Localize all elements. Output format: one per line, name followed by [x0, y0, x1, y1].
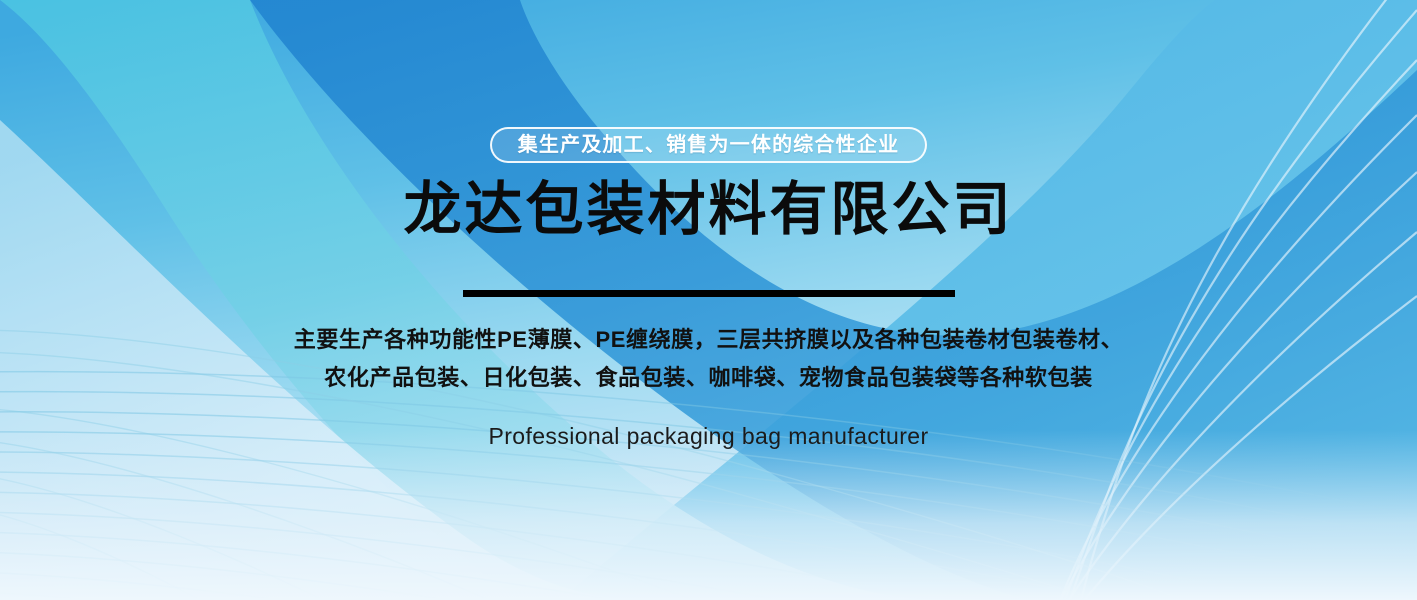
description-line-1: 主要生产各种功能性PE薄膜、PE缠绕膜，三层共挤膜以及各种包装卷材包装卷材、	[294, 326, 1124, 354]
tagline-badge-label: 集生产及加工、销售为一体的综合性企业	[518, 135, 900, 155]
banner-content: 集生产及加工、销售为一体的综合性企业 龙达包装材料有限公司 主要生产各种功能性P…	[0, 0, 1417, 600]
description-line-2: 农化产品包装、日化包装、食品包装、咖啡袋、宠物食品包装袋等各种软包装	[324, 364, 1092, 392]
tagline-badge: 集生产及加工、销售为一体的综合性企业	[490, 127, 928, 163]
hero-banner: 集生产及加工、销售为一体的综合性企业 龙达包装材料有限公司 主要生产各种功能性P…	[0, 0, 1417, 600]
company-name-title: 龙达包装材料有限公司	[403, 179, 1013, 242]
description-block: 主要生产各种功能性PE薄膜、PE缠绕膜，三层共挤膜以及各种包装卷材包装卷材、 农…	[294, 326, 1124, 391]
english-tagline: Professional packaging bag manufacturer	[488, 423, 928, 450]
title-underline-rule	[463, 290, 955, 297]
